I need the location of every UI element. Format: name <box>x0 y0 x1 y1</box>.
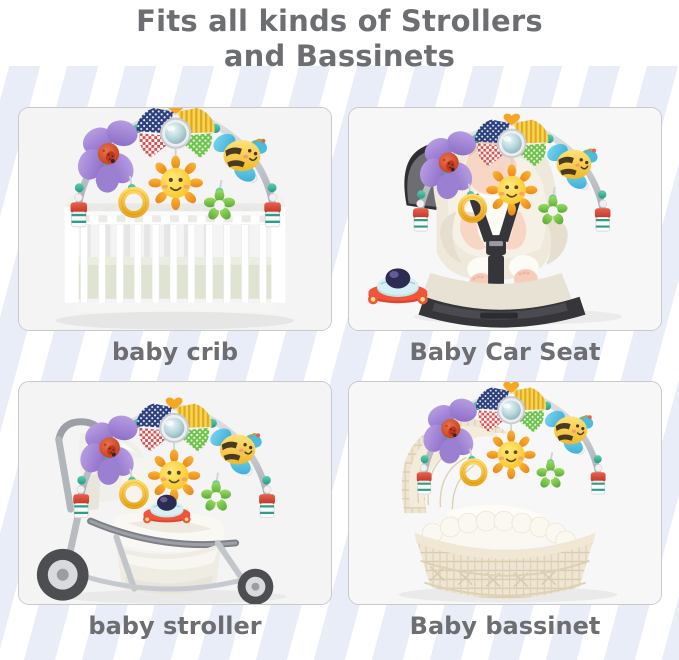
panel-crib <box>18 107 332 331</box>
page-title-line-1: Fits all kinds of Strollers <box>136 4 543 38</box>
caption-carseat: Baby Car Seat <box>348 338 662 366</box>
panel-carseat <box>348 107 662 331</box>
panel-stroller <box>18 381 332 605</box>
stroller-illustration <box>19 382 331 605</box>
caption-bassinet: Baby bassinet <box>348 612 662 640</box>
wheel-front <box>238 569 274 605</box>
wheel-rear <box>37 549 89 601</box>
crib-illustration <box>19 108 331 331</box>
bassinet-illustration <box>349 382 661 605</box>
page-title: Fits all kinds of Strollers and Bassinet… <box>0 4 679 74</box>
page-title-line-2: and Bassinets <box>0 39 679 74</box>
caption-stroller: baby stroller <box>18 612 332 640</box>
panel-bassinet <box>348 381 662 605</box>
carseat-illustration <box>349 108 661 331</box>
caption-crib: baby crib <box>18 338 332 366</box>
